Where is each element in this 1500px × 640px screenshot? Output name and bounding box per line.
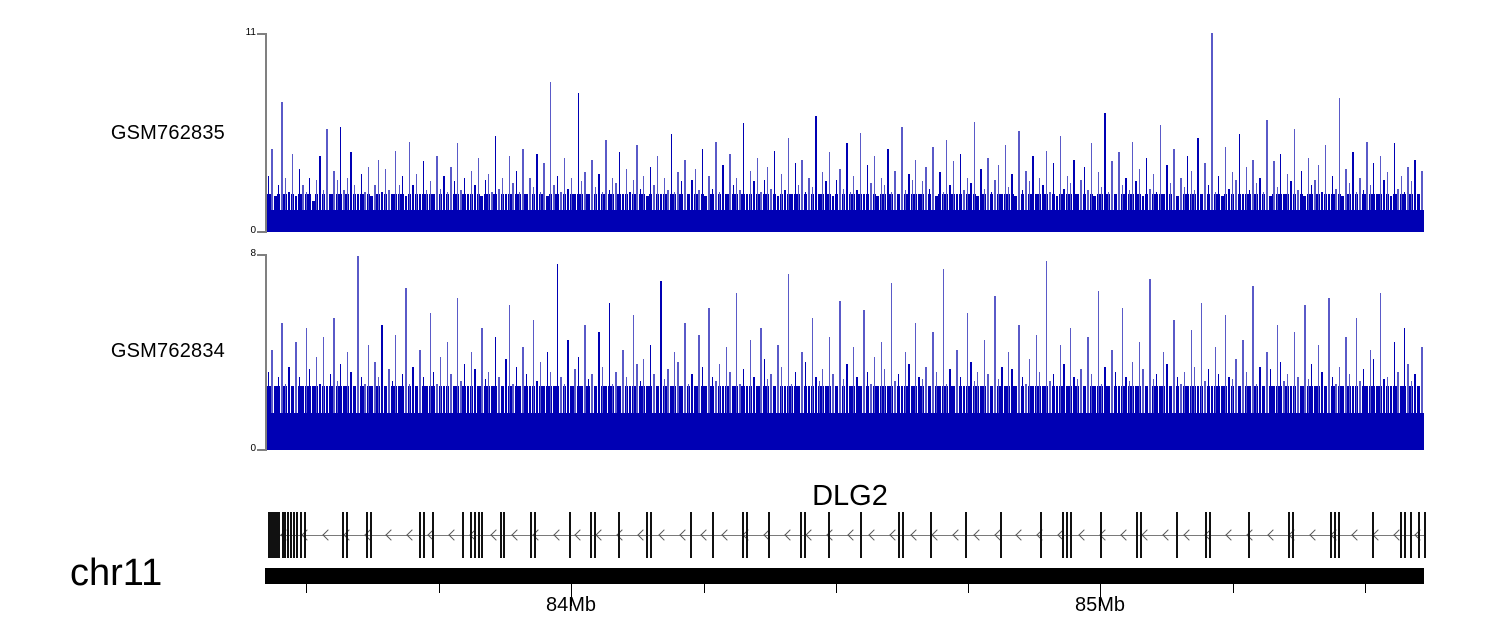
ruler-label: 85Mb (1050, 594, 1150, 617)
ruler-minor-tick (704, 584, 705, 593)
ruler-minor-tick (306, 584, 307, 593)
ruler-ticks: 84Mb85Mb (0, 0, 1500, 640)
ruler-minor-tick (1365, 584, 1366, 593)
ruler-label: 84Mb (521, 594, 621, 617)
ruler-minor-tick (1233, 584, 1234, 593)
ruler-minor-tick (439, 584, 440, 593)
chromosome-ruler: chr11 84Mb85Mb (0, 0, 1500, 640)
ruler-minor-tick (968, 584, 969, 593)
genome-browser-view: GSM762835 11 0 GSM762834 8 0 DLG2 chr11 … (0, 0, 1500, 640)
ruler-minor-tick (836, 584, 837, 593)
